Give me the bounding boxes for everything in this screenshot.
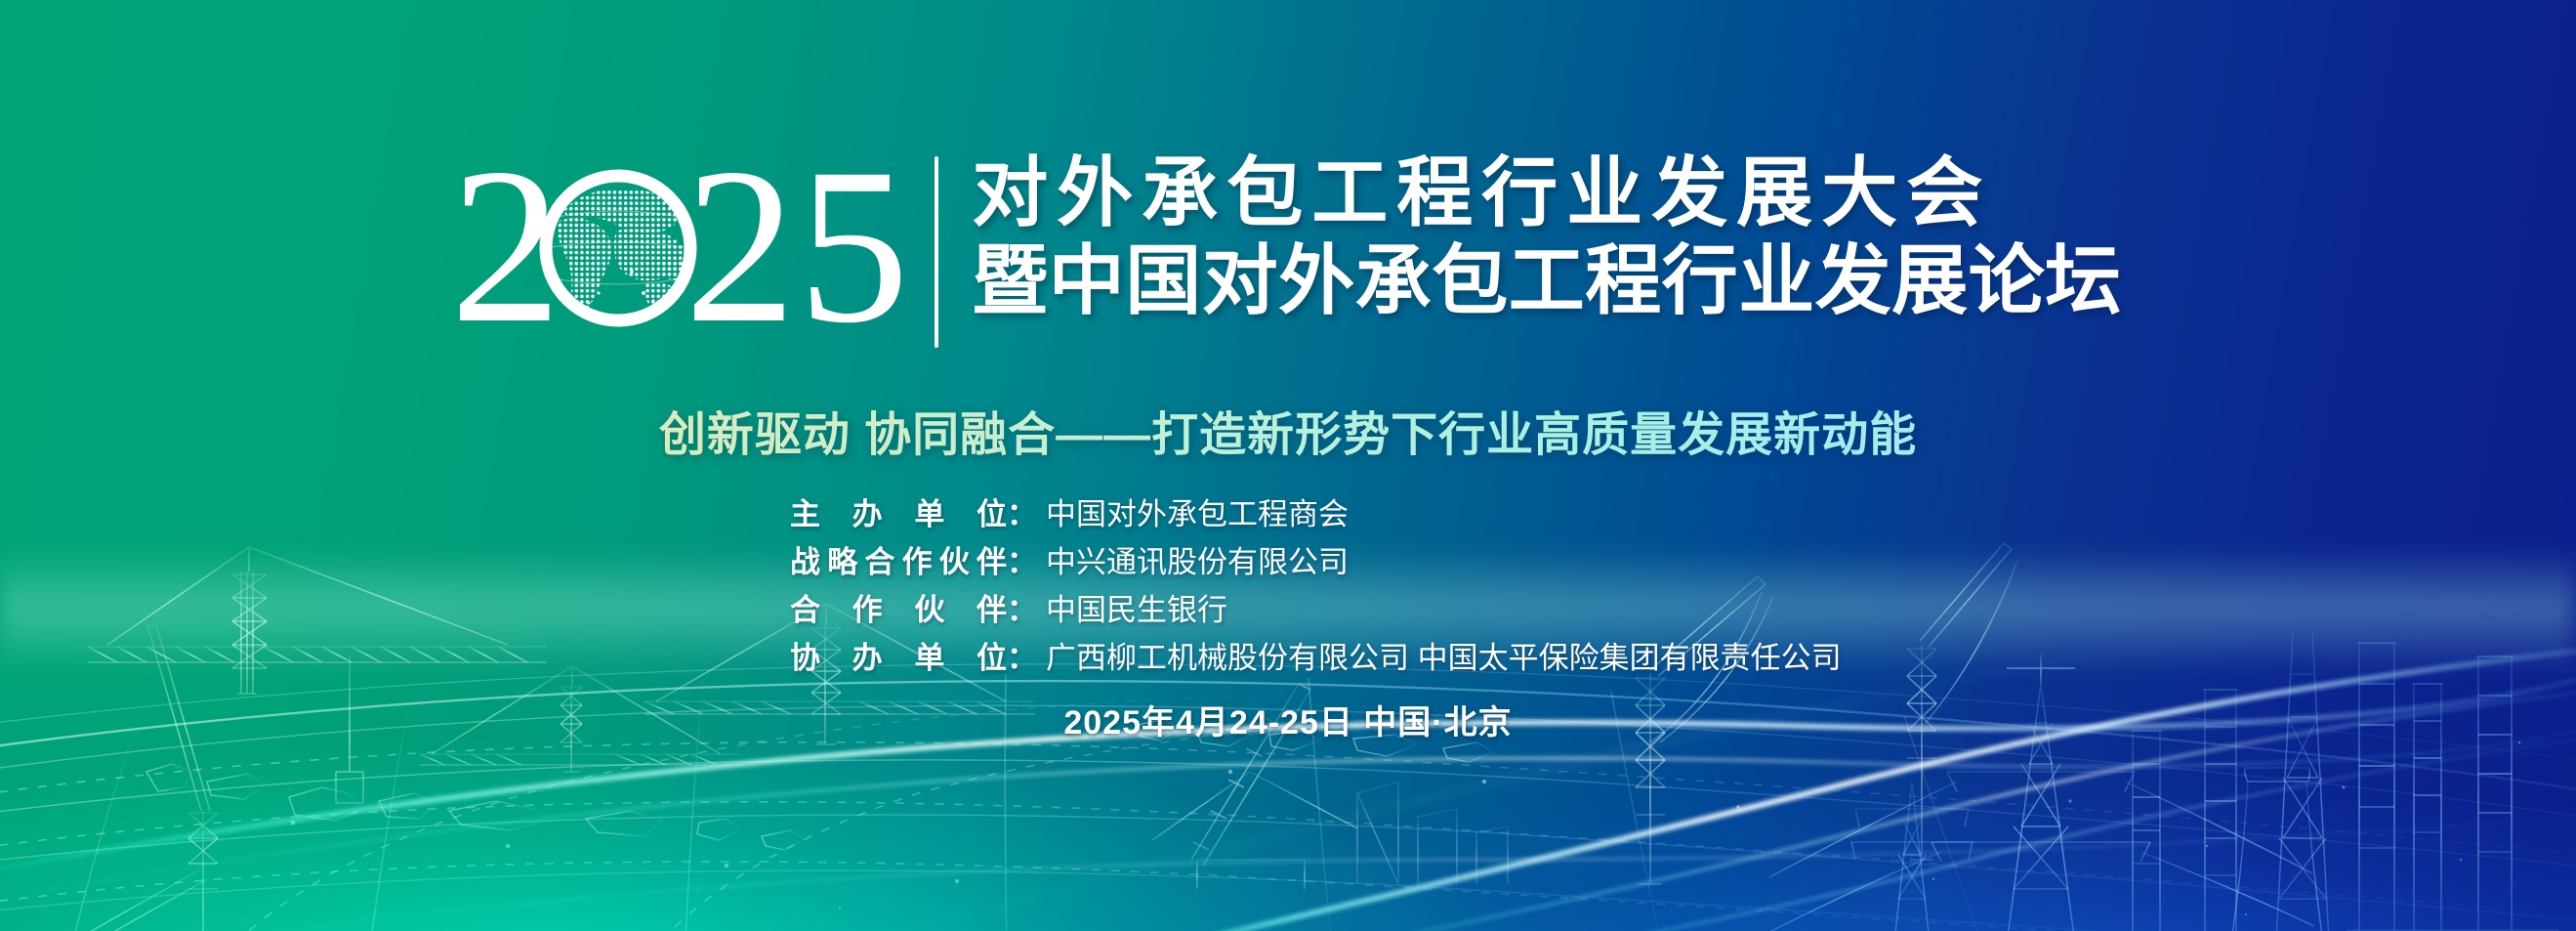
year-logo-svg: 2: [454, 147, 913, 357]
banner-content: 2: [0, 0, 2576, 931]
year-digit-5: 5: [798, 123, 909, 369]
organizer-value: 广西柳工机械股份有限公司 中国太平保险集团有限责任公司: [1046, 637, 1842, 680]
organizer-colon: ：: [1007, 541, 1037, 584]
organizer-label: 战略合作伙伴: [790, 541, 1007, 584]
main-title-line-1: 对外承包工程行业发展大会: [972, 148, 2122, 236]
organizer-colon: ：: [1007, 637, 1037, 680]
conference-banner: 2: [0, 0, 2576, 931]
organizer-label: 合作伙伴: [790, 589, 1007, 632]
organizer-label: 主办单位: [790, 493, 1007, 536]
organizer-row: 主办单位 ： 中国对外承包工程商会: [790, 493, 1786, 536]
organizer-value: 中国对外承包工程商会: [1046, 493, 1786, 536]
organizer-row: 协办单位 ： 广西柳工机械股份有限公司 中国太平保险集团有限责任公司: [790, 637, 1786, 680]
date-location: 2025年4月24-25日 中国·北京: [0, 696, 2576, 743]
organizer-row: 战略合作伙伴 ： 中兴通讯股份有限公司: [790, 541, 1786, 584]
title-stack: 对外承包工程行业发展大会 暨中国对外承包工程行业发展论坛: [972, 147, 2122, 325]
title-divider: [935, 156, 938, 348]
organizer-colon: ：: [1007, 589, 1037, 632]
organizer-label: 协办单位: [790, 637, 1007, 680]
organizer-list: 主办单位 ： 中国对外承包工程商会 战略合作伙伴 ： 中兴通讯股份有限公司 合作…: [0, 493, 2576, 680]
organizer-colon: ：: [1007, 493, 1037, 536]
organizer-row: 合作伙伴 ： 中国民生银行: [790, 589, 1786, 632]
main-title-line-2: 暨中国对外承包工程行业发展论坛: [972, 236, 2122, 324]
globe-dotted-icon: [544, 176, 692, 320]
title-row: 2: [0, 147, 2576, 357]
organizer-value: 中兴通讯股份有限公司: [1046, 541, 1786, 584]
year-logo-2025: 2: [454, 147, 913, 357]
slogan: 创新驱动 协同融合——打造新形势下行业高质量发展新动能: [0, 396, 2576, 464]
organizer-value: 中国民生银行: [1046, 589, 1786, 632]
year-digit-2b: 2: [685, 123, 796, 369]
